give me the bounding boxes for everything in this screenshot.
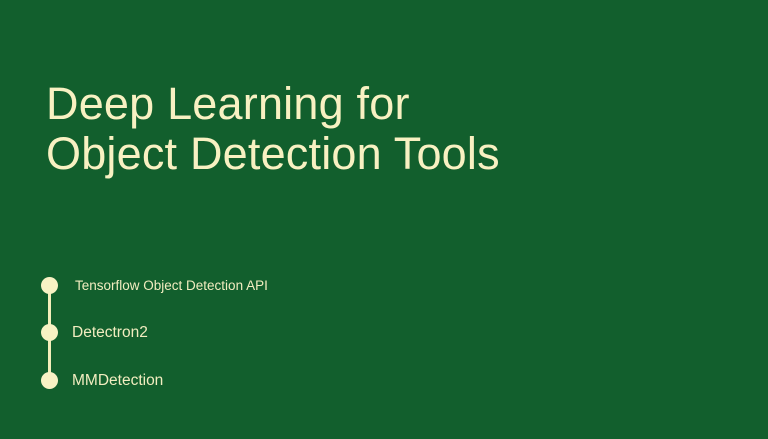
list-item-label: Tensorflow Object Detection API	[75, 277, 268, 294]
presentation-slide: Deep Learning for Object Detection Tools…	[0, 0, 768, 439]
tools-timeline-list: Tensorflow Object Detection API Detectro…	[0, 0, 768, 439]
bullet-circle-icon	[41, 372, 58, 389]
bullet-circle-icon	[41, 277, 58, 294]
list-item-label: MMDetection	[72, 371, 163, 390]
bullet-circle-icon	[41, 324, 58, 341]
list-item-label: Detectron2	[72, 323, 148, 342]
